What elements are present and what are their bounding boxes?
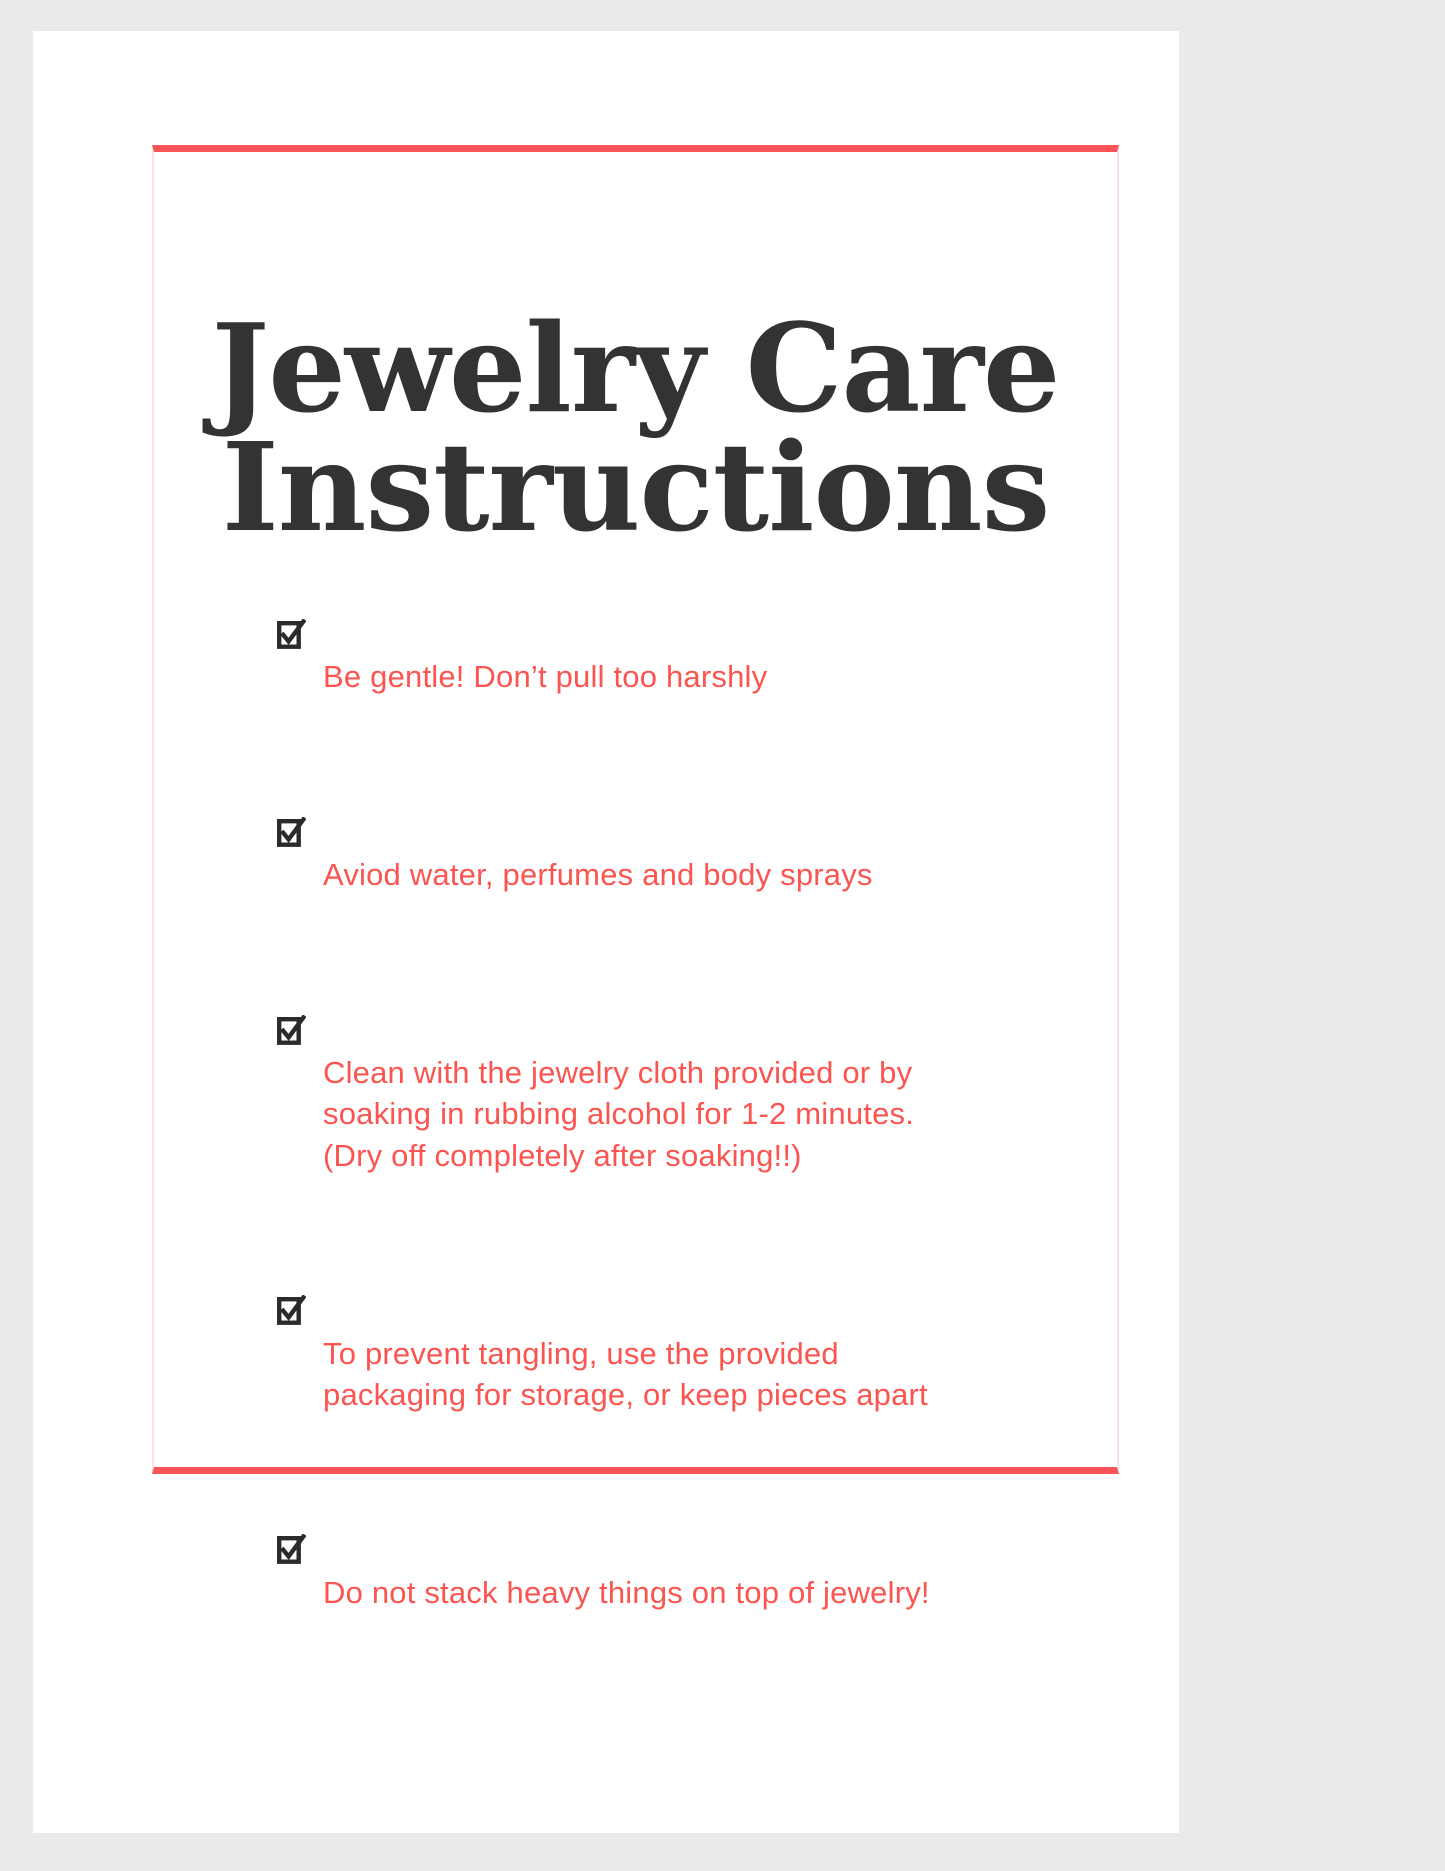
- list-item-text: To prevent tangling, use the provided pa…: [323, 1333, 1089, 1415]
- list-item: Clean with the jewelry cloth provided or…: [269, 970, 1089, 1217]
- checked-checkbox-icon: [277, 578, 306, 609]
- list-item-text: Do not stack heavy things on top of jewe…: [323, 1572, 1089, 1613]
- checked-checkbox-icon: [277, 974, 306, 1005]
- list-item: Do not stack heavy things on top of jewe…: [269, 1489, 1089, 1654]
- list-item-text: Be gentle! Don’t pull too harshly: [323, 656, 1089, 697]
- list-item: To prevent tangling, use the provided pa…: [269, 1250, 1089, 1456]
- checked-checkbox-icon: [277, 776, 306, 807]
- document-page: Jewelry Care Instructions Be gentle! Don…: [33, 31, 1179, 1833]
- checked-checkbox-icon: [277, 1254, 306, 1285]
- page-title: Jewelry Care Instructions: [152, 309, 1119, 548]
- list-item: Be gentle! Don’t pull too harshly: [269, 574, 1089, 739]
- list-item-text: Clean with the jewelry cloth provided or…: [323, 1052, 1089, 1176]
- checked-checkbox-icon: [277, 1493, 306, 1524]
- list-item-text: Aviod water, perfumes and body sprays: [323, 854, 1089, 895]
- care-instructions-list: Be gentle! Don’t pull too harshly Aviod …: [269, 574, 1089, 1654]
- list-item: Aviod water, perfumes and body sprays: [269, 772, 1089, 937]
